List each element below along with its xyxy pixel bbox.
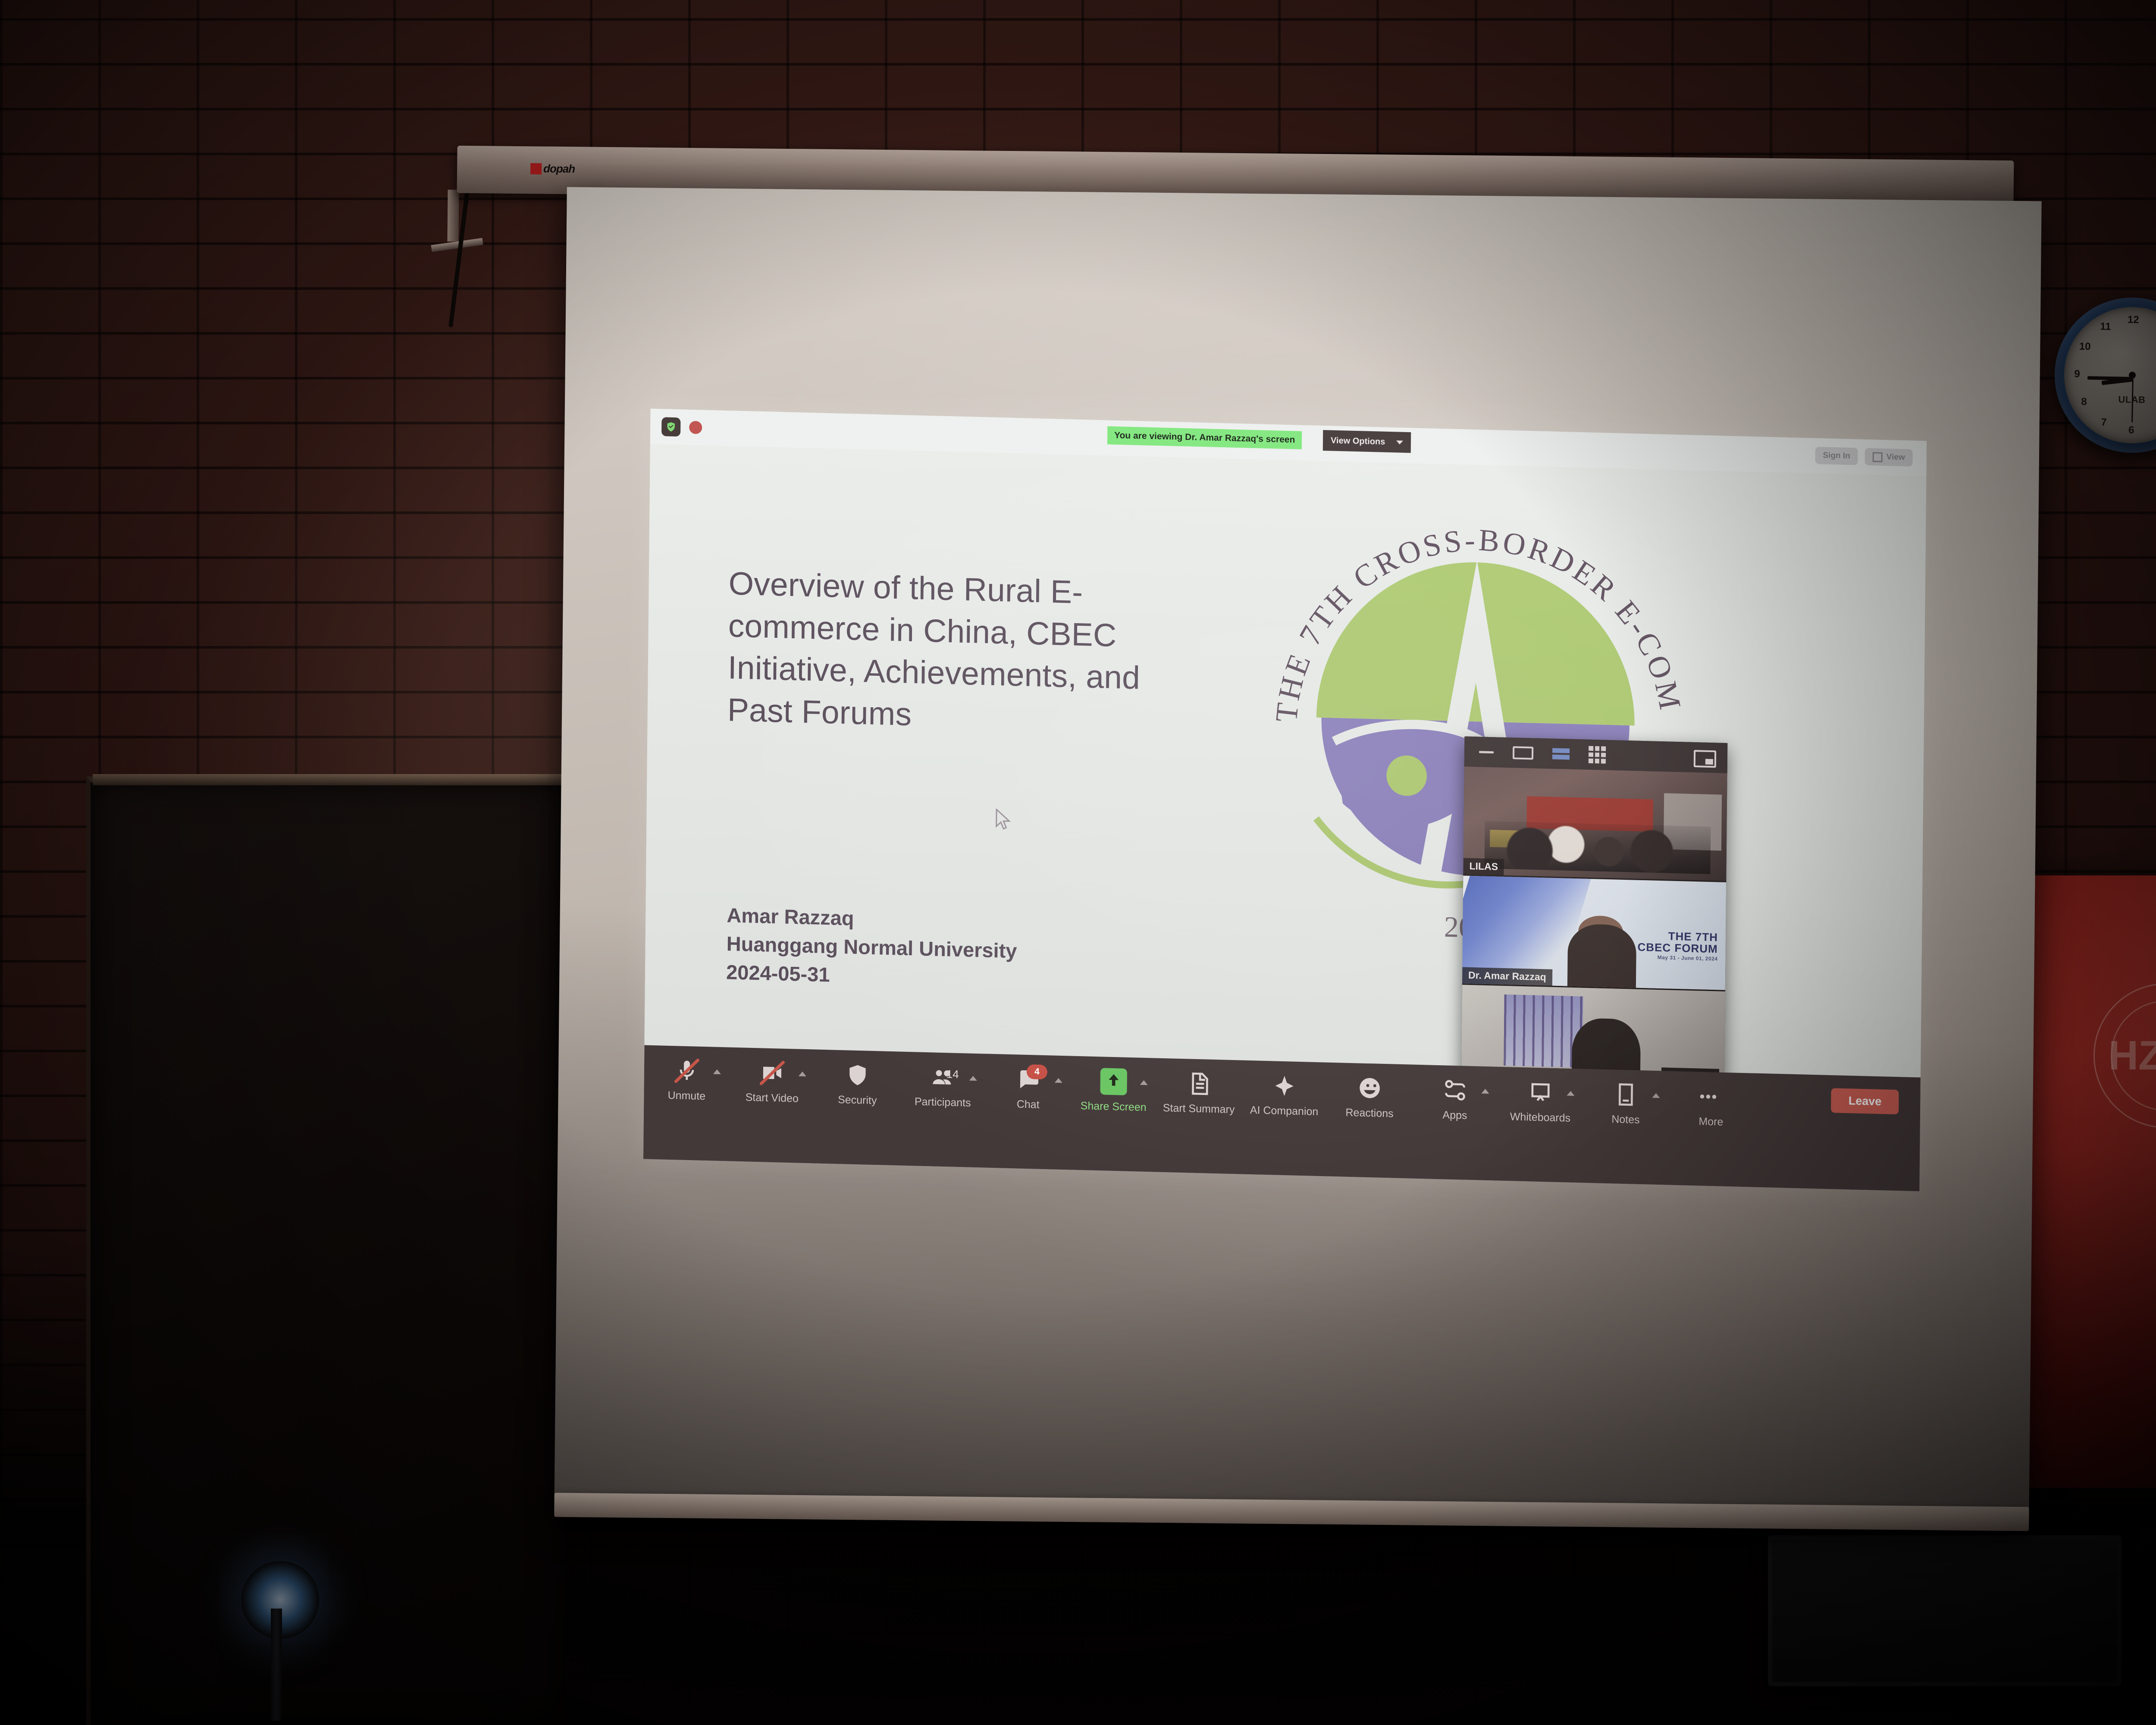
toolbar-item-whiteboards[interactable]: Whiteboards	[1498, 1078, 1583, 1125]
shield-icon	[846, 1061, 870, 1088]
chevron-up-icon[interactable]	[969, 1076, 977, 1081]
minimize-icon[interactable]	[1479, 751, 1494, 753]
tile-person-body	[1567, 924, 1636, 988]
clock-numeral: 6	[2128, 424, 2134, 436]
logo-year: 2024	[1444, 910, 1503, 944]
ai-sparkle-icon	[1272, 1072, 1297, 1099]
video-tile[interactable]: THE 7TH CBEC FORUM May 31 - June 01, 202…	[1462, 875, 1726, 991]
toolbar-item-label: Start Video	[746, 1091, 799, 1105]
clock-numeral: 8	[2081, 396, 2087, 408]
university-seal: HZAU 1898	[2093, 983, 2156, 1128]
chat-bubble-icon: 4	[1016, 1066, 1040, 1093]
gallery-view-icon[interactable]	[1589, 746, 1606, 764]
tile-backdrop	[1527, 796, 1653, 831]
author-affiliation: Huanggang Normal University	[726, 929, 1017, 965]
toolbar-item-apps[interactable]: Apps	[1412, 1076, 1498, 1123]
confidence-monitor	[1768, 1535, 2122, 1686]
chevron-up-icon[interactable]	[799, 1072, 806, 1076]
tile-audience	[1484, 821, 1711, 874]
brand-square-mark	[530, 163, 542, 174]
seal-monogram: HZAU	[2109, 1035, 2156, 1076]
toolbar-item-start-summary[interactable]: Start Summary	[1156, 1069, 1242, 1117]
clock-minute-hand	[2087, 376, 2132, 380]
popout-icon[interactable]	[1694, 750, 1716, 768]
toolbar-item-label: Reactions	[1345, 1107, 1393, 1120]
tile-object	[1490, 830, 1527, 848]
view-button[interactable]: View	[1865, 448, 1913, 467]
projected-zoom-application: You are viewing Dr. Amar Razzaq's screen…	[643, 409, 1927, 1192]
tile-person-head	[1578, 915, 1623, 949]
screen-bracket-left	[447, 190, 459, 241]
clock-numeral: 11	[2100, 321, 2111, 333]
clock-numeral: 12	[2128, 314, 2139, 326]
view-label: View	[1887, 452, 1905, 462]
chevron-up-icon[interactable]	[1055, 1078, 1062, 1083]
participants-icon: 14	[931, 1063, 955, 1091]
toolbar-item-label: Unmute	[667, 1089, 705, 1103]
toolbar-item-label: Whiteboards	[1510, 1110, 1571, 1125]
chevron-up-icon[interactable]	[1481, 1089, 1489, 1094]
tile-wall	[1664, 793, 1722, 850]
screen-brand-logo: dopah	[530, 162, 575, 176]
chevron-up-icon[interactable]	[713, 1069, 721, 1074]
participant-name-label: Dr. Amar Razzaq	[1462, 967, 1552, 985]
speaker-view-icon[interactable]	[1552, 748, 1570, 760]
reactions-icon	[1357, 1074, 1382, 1101]
clock-numeral: 9	[2074, 368, 2080, 380]
tile-window	[1504, 994, 1583, 1068]
view-options-button[interactable]: View Options	[1323, 430, 1411, 453]
chevron-down-icon	[1396, 440, 1403, 444]
share-screen-icon	[1100, 1068, 1127, 1095]
svg-text:THE 7TH CROSS-BORDER E-COMMERC: THE 7TH CROSS-BORDER E-COMMERCE	[1241, 483, 1691, 734]
slide-date: 2024-05-31	[726, 958, 1017, 994]
toolbar-item-label: Apps	[1442, 1109, 1467, 1122]
toolbar-item-chat[interactable]: 4Chat	[985, 1065, 1071, 1112]
toolbar-item-start-video[interactable]: Start Video	[729, 1059, 815, 1106]
video-muted-icon	[760, 1059, 785, 1086]
clock-numeral: 10	[2079, 341, 2091, 353]
left-display-board	[86, 776, 565, 1725]
shared-slide-content: Overview of the Rural E-commerce in Chin…	[644, 444, 1926, 1089]
brand-name: dopah	[543, 162, 575, 176]
slide-author-block: Amar Razzaq Huanggang Normal University …	[726, 901, 1018, 993]
clock-numeral: 7	[2101, 417, 2107, 429]
viewing-notice-banner: You are viewing Dr. Amar Razzaq's screen	[1107, 426, 1302, 449]
virtual-background-text: THE 7TH CBEC FORUM May 31 - June 01, 202…	[1637, 930, 1718, 963]
toolbar-item-participants[interactable]: 14Participants	[900, 1063, 986, 1110]
toolbar-item-label: Security	[838, 1094, 877, 1107]
view-icon	[1873, 452, 1883, 462]
summary-icon	[1187, 1070, 1211, 1097]
toolbar-item-label: Share Screen	[1081, 1100, 1147, 1114]
video-filmstrip-panel[interactable]: LILAS THE 7TH CBEC FORUM May 31 - June 0…	[1460, 737, 1727, 1089]
notes-icon	[1614, 1081, 1638, 1108]
toolbar-item-label: AI Companion	[1250, 1104, 1319, 1118]
window-buttons-group: Sign In View	[1815, 447, 1913, 467]
toolbar-item-reactions[interactable]: Reactions	[1327, 1074, 1413, 1121]
toolbar-item-notes[interactable]: Notes	[1583, 1080, 1669, 1127]
board-top-rail	[93, 774, 565, 785]
seal-inner-ring: HZAU 1898	[2111, 1000, 2156, 1111]
toolbar-item-more[interactable]: More	[1668, 1082, 1754, 1129]
sign-in-button[interactable]: Sign In	[1815, 447, 1858, 465]
conference-room-scene: ULAB 123456789101112 HZAU 1898	[0, 0, 2156, 1725]
single-view-icon[interactable]	[1513, 746, 1533, 759]
slide-title: Overview of the Rural E-commerce in Chin…	[727, 562, 1160, 741]
video-tile[interactable]: LILAS	[1463, 767, 1727, 882]
toolbar-item-label: Participants	[915, 1095, 971, 1109]
chevron-up-icon[interactable]	[1567, 1091, 1574, 1096]
whiteboard-icon	[1528, 1079, 1553, 1106]
sign-in-label: Sign In	[1823, 451, 1850, 461]
chevron-up-icon[interactable]	[1652, 1093, 1660, 1098]
vbg-line-3: May 31 - June 01, 2024	[1658, 954, 1718, 962]
university-banner: HZAU 1898	[2027, 875, 2156, 1488]
tile-window-bars	[1504, 994, 1583, 1068]
unread-badge: 4	[1027, 1064, 1047, 1079]
cbec-forum-logo: THE 7TH CROSS-BORDER E-COMMERCE 2024	[1241, 483, 1711, 960]
author-name: Amar Razzaq	[727, 901, 1017, 937]
meeting-status-icons	[661, 417, 702, 437]
participant-name-label: LILAS	[1463, 858, 1504, 875]
vbg-line-1: THE 7TH	[1668, 930, 1718, 944]
apps-icon	[1443, 1076, 1467, 1104]
shield-check-icon[interactable]	[661, 417, 680, 436]
share-screen-icon	[1100, 1068, 1127, 1095]
toolbar-item-ai-companion[interactable]: AI Companion	[1241, 1072, 1327, 1119]
logo-arc-text: THE 7TH CROSS-BORDER E-COMMERCE	[1241, 483, 1691, 734]
view-options-label: View Options	[1331, 436, 1385, 447]
toolbar-item-label: More	[1698, 1115, 1723, 1128]
toolbar-item-label: Chat	[1017, 1098, 1040, 1111]
floor-light-stand	[271, 1609, 282, 1721]
filmstrip-control-bar	[1464, 737, 1728, 773]
microphone-muted-icon	[675, 1057, 699, 1084]
toolbar-item-unmute[interactable]: Unmute	[644, 1057, 730, 1104]
chevron-up-icon[interactable]	[1140, 1080, 1148, 1085]
recording-dot-icon[interactable]	[689, 421, 702, 434]
vbg-line-2: CBEC FORUM	[1637, 941, 1717, 956]
toolbar-item-share-screen[interactable]: Share Screen	[1071, 1067, 1156, 1114]
virtual-background-stripe	[1462, 875, 1594, 991]
toolbar-item-security[interactable]: Security	[815, 1061, 900, 1108]
leave-meeting-button[interactable]: Leave	[1831, 1088, 1899, 1114]
toolbar-item-label: Notes	[1611, 1113, 1640, 1126]
toolbar-item-label: Start Summary	[1163, 1102, 1235, 1116]
participant-count: 14	[946, 1067, 959, 1081]
ellipsis-icon	[1699, 1083, 1724, 1110]
clock-face: ULAB 123456789101112	[2063, 306, 2156, 444]
zoom-window: You are viewing Dr. Amar Razzaq's screen…	[643, 409, 1927, 1192]
